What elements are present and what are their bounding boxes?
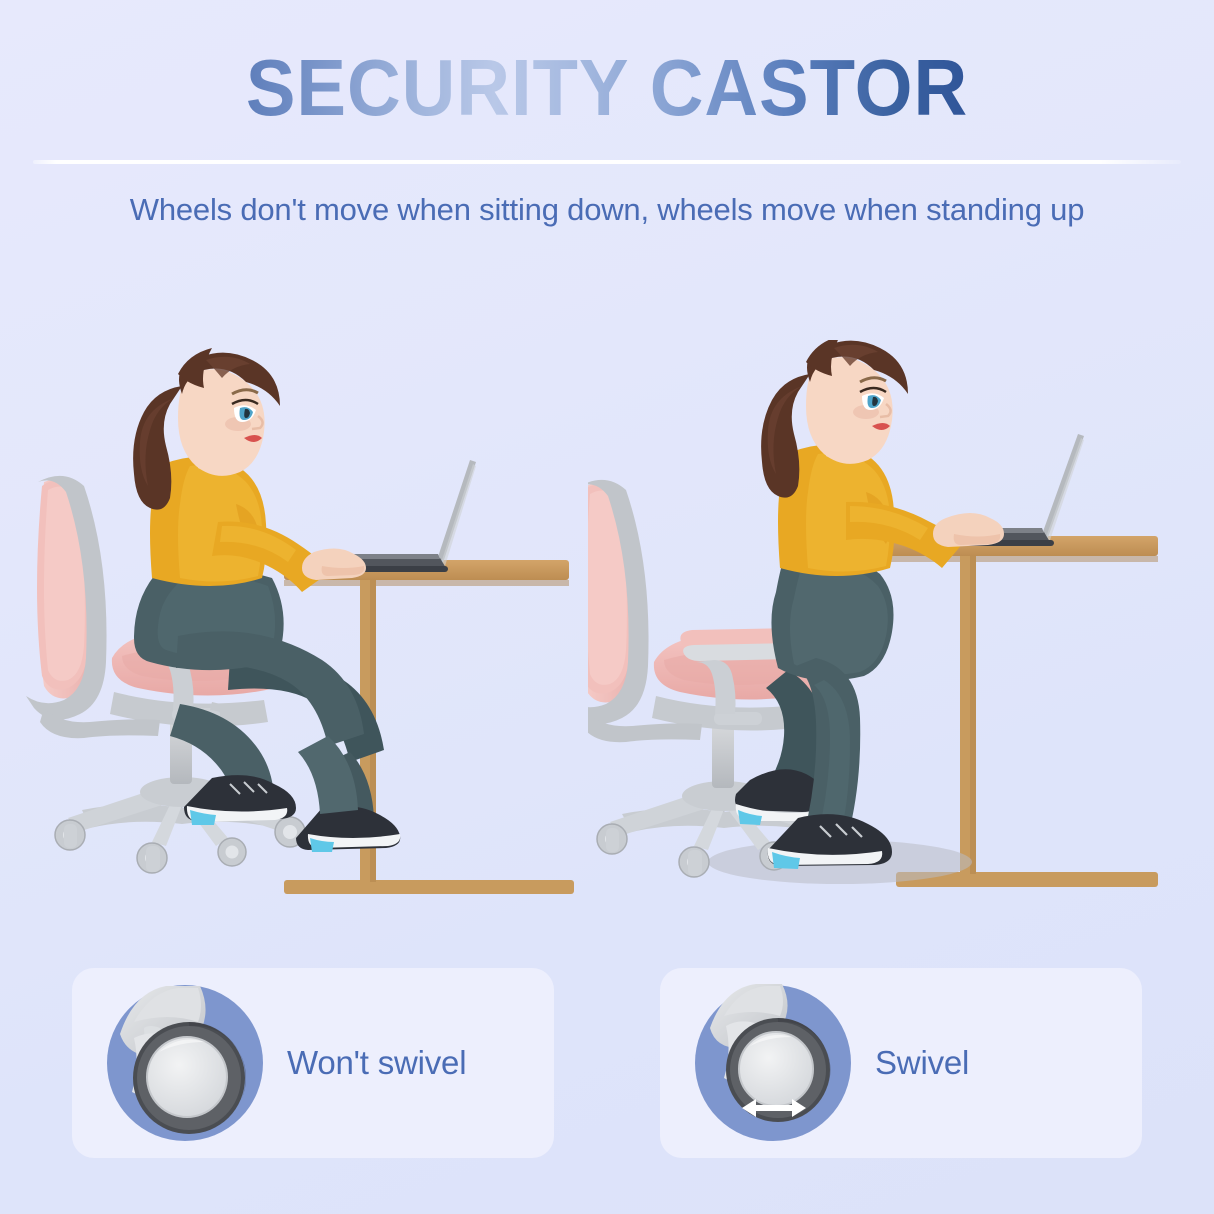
desk-right xyxy=(888,536,1158,887)
swivel-card[interactable]: Swivel xyxy=(660,968,1142,1158)
wont-swivel-label: Won't swivel xyxy=(287,968,537,1158)
shoe-far xyxy=(296,806,400,852)
wont-swivel-card[interactable]: Won't swivel xyxy=(72,968,554,1158)
standing-up-scene xyxy=(588,340,1158,940)
page-title: SECURITY CASTOR xyxy=(42,46,1171,130)
swivel-label: Swivel xyxy=(875,968,1125,1158)
caster-wheel-icon xyxy=(104,982,266,1144)
hand-left-scene xyxy=(302,548,366,580)
hand-right-scene xyxy=(933,513,1004,547)
caster-wheel-swivel-icon xyxy=(692,982,854,1144)
page-root: SECURITY CASTOR Wheels don't move when s… xyxy=(0,0,1214,1214)
sitting-down-scene xyxy=(22,340,592,940)
page-subtitle: Wheels don't move when sitting down, whe… xyxy=(0,190,1214,230)
header-divider xyxy=(33,160,1181,164)
